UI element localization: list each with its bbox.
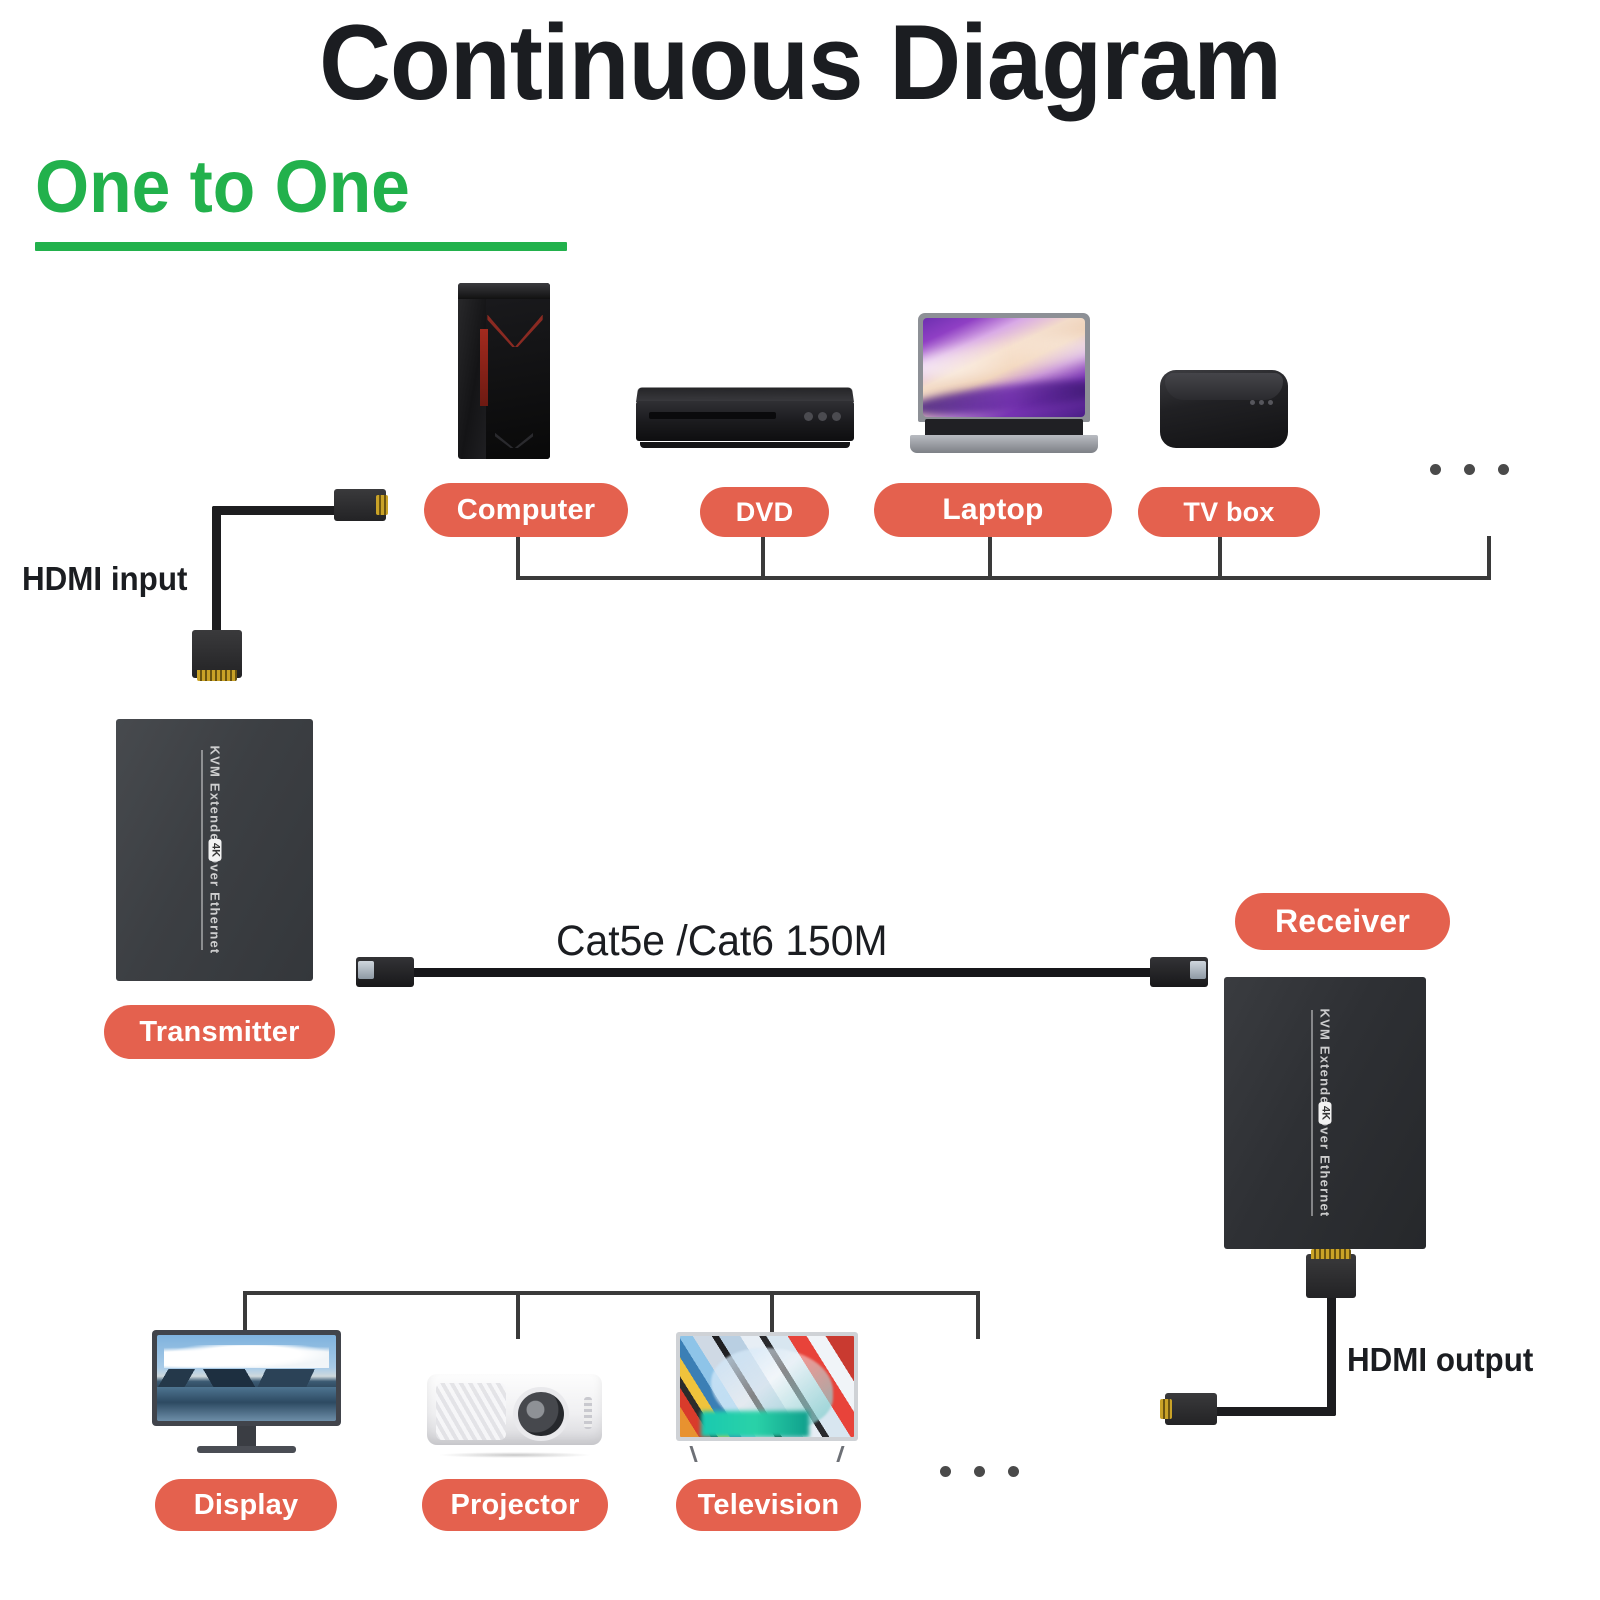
- source-drop-dvd: [761, 537, 765, 578]
- source-bus-right-riser: [1487, 536, 1491, 578]
- dvd-player-icon: [636, 386, 854, 448]
- receiver-pill[interactable]: Receiver: [1235, 893, 1450, 950]
- sink-label-display: Display: [194, 1489, 299, 1522]
- transmitter-pill[interactable]: Transmitter: [104, 1005, 335, 1059]
- sink-pill-projector[interactable]: Projector: [422, 1479, 608, 1531]
- sink-pill-display[interactable]: Display: [155, 1479, 337, 1531]
- subtitle-text: One to One: [35, 150, 535, 224]
- subtitle-underline: [35, 242, 567, 251]
- receiver-device: KVM Extender Over Ethernet 4K: [1224, 977, 1426, 1249]
- source-label-computer: Computer: [457, 494, 596, 527]
- transmitter-4k-badge: 4K: [208, 839, 221, 861]
- source-drop-tvbox: [1218, 537, 1222, 578]
- source-pill-laptop[interactable]: Laptop: [874, 483, 1112, 537]
- source-label-tvbox: TV box: [1183, 497, 1274, 528]
- link-label: Cat5e /Cat6 150M: [556, 917, 888, 966]
- hdmi-output-label: HDMI output: [1347, 1341, 1533, 1379]
- receiver-4k-badge: 4K: [1319, 1102, 1332, 1124]
- transmitter-label: Transmitter: [139, 1016, 299, 1049]
- tv-box-icon: [1160, 370, 1288, 448]
- rj45-plug-left: [356, 957, 414, 987]
- sink-drop-projector: [516, 1291, 520, 1339]
- hdmi-out-plug-top: [1306, 1254, 1356, 1298]
- source-pill-dvd[interactable]: DVD: [700, 487, 829, 537]
- sink-label-projector: Projector: [450, 1489, 579, 1522]
- desktop-tower-icon: [458, 283, 550, 459]
- source-drop-laptop: [988, 537, 992, 578]
- source-pill-computer[interactable]: Computer: [424, 483, 628, 537]
- receiver-label: Receiver: [1275, 903, 1410, 940]
- source-label-laptop: Laptop: [942, 493, 1043, 527]
- page-title: Continuous Diagram: [56, 4, 1544, 122]
- sink-more-dots: [940, 1466, 1019, 1477]
- source-more-dots: [1430, 464, 1509, 475]
- hdmi-plug-bottom-contacts: [197, 670, 237, 681]
- laptop-icon: [910, 313, 1098, 453]
- transmitter-device: KVM Extender Over Ethernet 4K: [116, 719, 313, 981]
- hdmi-out-plug-top-contacts: [1311, 1249, 1351, 1259]
- hdmi-input-label: HDMI input: [22, 560, 187, 598]
- source-pill-tvbox[interactable]: TV box: [1138, 487, 1320, 537]
- source-label-dvd: DVD: [736, 497, 794, 528]
- sink-bus-line: [243, 1291, 980, 1295]
- hdmi-plug-top-contacts: [376, 495, 388, 515]
- sink-bus-right-riser: [976, 1291, 980, 1339]
- hdmi-out-plug-left-contacts: [1160, 1399, 1172, 1419]
- subtitle-block: One to One: [35, 150, 567, 251]
- monitor-icon: [152, 1330, 341, 1460]
- projector-icon: [427, 1368, 602, 1460]
- television-icon: [676, 1332, 858, 1462]
- sink-pill-television[interactable]: Television: [676, 1479, 861, 1531]
- sink-label-television: Television: [698, 1489, 840, 1522]
- hdmi-out-plug-left: [1165, 1393, 1217, 1425]
- source-drop-computer: [516, 537, 520, 578]
- rj45-plug-right: [1150, 957, 1208, 987]
- source-bus-line: [516, 576, 1491, 580]
